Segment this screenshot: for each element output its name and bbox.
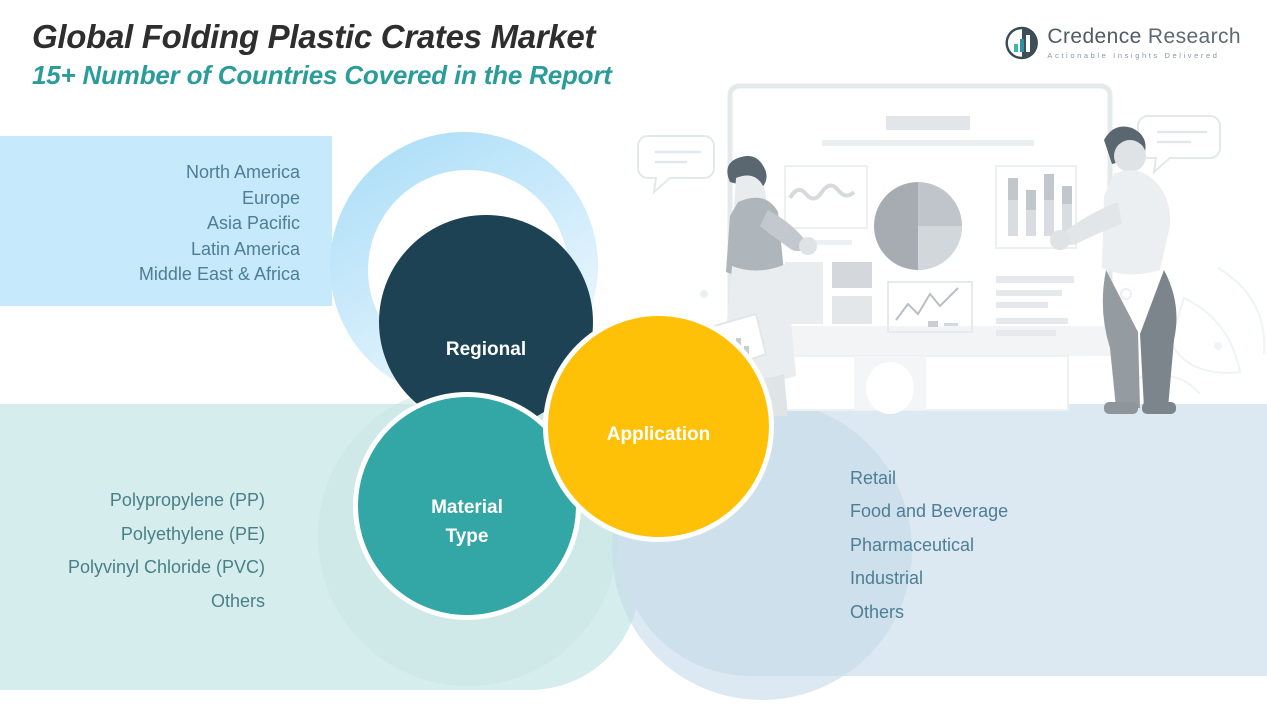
list-item: Polypropylene (PP)	[0, 484, 265, 518]
list-item: Industrial	[850, 562, 1008, 595]
logo-name-bold: Credence	[1047, 25, 1141, 48]
logo-company-name: Credence Research	[1047, 26, 1241, 48]
infographic-canvas: Global Folding Plastic Crates Market 15+…	[0, 0, 1267, 713]
application-circle-label: Application	[607, 424, 710, 446]
regional-circle-label: Regional	[446, 339, 526, 361]
list-item: Polyvinyl Chloride (PVC)	[0, 551, 265, 585]
list-item: Middle East & Africa	[0, 262, 300, 288]
list-item: Asia Pacific	[0, 211, 300, 237]
material-type-list: Polypropylene (PP) Polyethylene (PE) Pol…	[0, 484, 265, 618]
list-item: Food and Beverage	[850, 495, 1008, 528]
list-item: Retail	[850, 462, 1008, 495]
dot-decoration-2	[1214, 342, 1222, 350]
logo-text: Credence Research Actionable Insights De…	[1047, 26, 1241, 59]
material-label-line2: Type	[446, 526, 489, 547]
ring-decoration	[1121, 289, 1131, 299]
header: Global Folding Plastic Crates Market 15+…	[32, 16, 932, 93]
logo-name-rest: Research	[1142, 25, 1241, 48]
list-item: Latin America	[0, 237, 300, 263]
page-subtitle: 15+ Number of Countries Covered in the R…	[32, 59, 932, 93]
list-item: North America	[0, 160, 300, 186]
list-item: Polyethylene (PE)	[0, 518, 265, 552]
logo-tagline: Actionable Insights Delivered	[1047, 51, 1241, 60]
speech-bubble-left	[638, 136, 714, 192]
list-item: Others	[0, 585, 265, 619]
application-list: Retail Food and Beverage Pharmaceutical …	[850, 462, 1008, 629]
list-item: Others	[850, 596, 1008, 629]
credence-research-logo[interactable]: Credence Research Actionable Insights De…	[1005, 26, 1241, 60]
application-circle[interactable]: Application	[543, 311, 774, 542]
material-label-line1: Material	[431, 497, 503, 518]
bar-chart-logo-icon	[1005, 26, 1039, 60]
page-title: Global Folding Plastic Crates Market	[32, 16, 932, 57]
speech-bubble-right	[1138, 116, 1220, 172]
regional-list: North America Europe Asia Pacific Latin …	[0, 160, 300, 288]
list-item: Pharmaceutical	[850, 529, 1008, 562]
list-item: Europe	[0, 186, 300, 212]
dot-decoration	[700, 290, 708, 298]
material-type-circle-label: MaterialType	[431, 493, 503, 552]
